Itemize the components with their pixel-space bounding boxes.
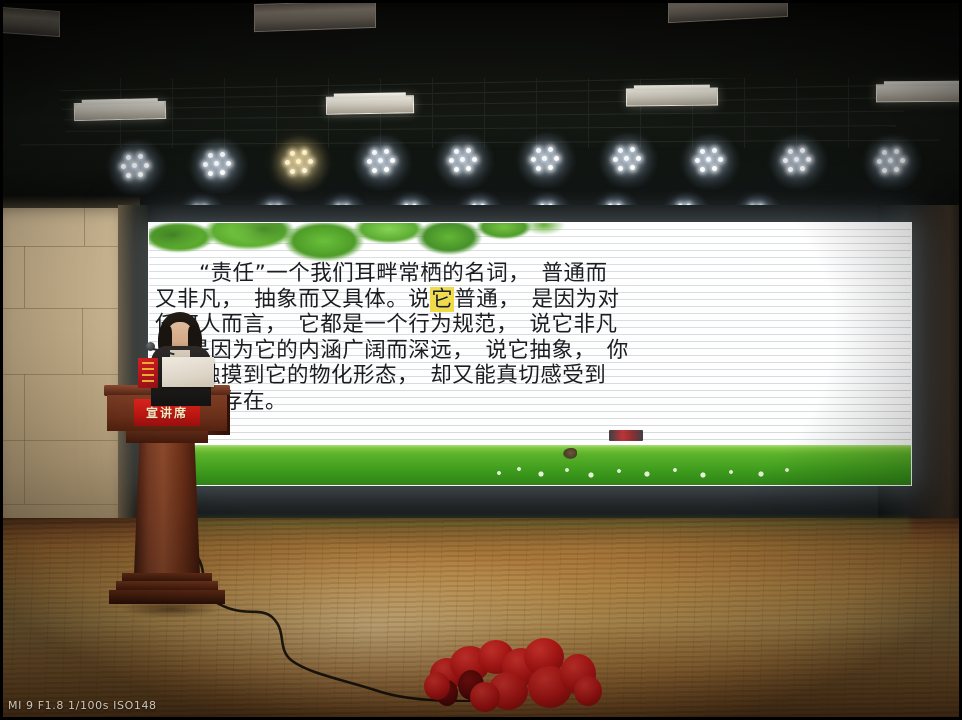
ceiling-troffer xyxy=(0,5,60,37)
slide-line-5: 难以触摸到它的物化形态， 却又能真切感受到 xyxy=(155,363,905,389)
led-spotlight xyxy=(120,152,154,182)
led-spotlight xyxy=(366,147,400,177)
led-spotlight xyxy=(448,146,482,176)
led-spotlight xyxy=(612,145,646,175)
camera-watermark: MI 9 F1.8 1/100s ISO148 xyxy=(8,699,157,712)
slide-white-flowers xyxy=(479,461,809,483)
slide-line-4: ， 是因为它的内涵广阔而深远， 说它抽象， 你 xyxy=(155,338,905,364)
slide-line-2a: 又非凡， 抽象而又具体。说 xyxy=(155,287,430,312)
led-spotlight xyxy=(284,148,318,178)
microphone-arm xyxy=(153,348,175,355)
slide-line-3: 任何人而言， 它都是一个行为规范， 说它非凡 xyxy=(155,312,905,338)
led-spotlight xyxy=(782,146,816,176)
slide-text-block: “责任”一个我们耳畔常栖的名词， 普通而 又非凡， 抽象而又具体。说它普通， 是… xyxy=(155,261,905,414)
slide-line-2b: 普通， 是因为对 xyxy=(454,287,619,312)
microphone xyxy=(146,342,174,358)
ceiling-troffer xyxy=(254,0,376,32)
podium-neck xyxy=(126,431,208,443)
ceiling-light-panel xyxy=(876,84,962,103)
projection-screen: “责任”一个我们耳畔常栖的名词， 普通而 又非凡， 抽象而又具体。说它普通， 是… xyxy=(148,222,912,486)
podium-base-step-3 xyxy=(109,590,225,604)
ceiling-troffer xyxy=(668,0,788,23)
slide-foliage-shadow xyxy=(148,222,403,265)
red-banner xyxy=(138,358,158,388)
slide-line-2: 又非凡， 抽象而又具体。说它普通， 是因为对 xyxy=(155,287,905,313)
led-spotlight xyxy=(202,150,236,180)
right-wall xyxy=(905,205,962,545)
slide-badge xyxy=(609,430,643,441)
ceiling-light-panel xyxy=(626,88,718,107)
led-spotlight xyxy=(876,147,910,177)
flower-arrangement xyxy=(424,636,604,720)
led-spotlight xyxy=(694,146,728,176)
speech-paper xyxy=(162,357,214,387)
watermark-text: MI 9 F1.8 1/100s ISO148 xyxy=(8,699,157,712)
podium-column xyxy=(134,443,200,575)
slide-bird xyxy=(563,448,577,459)
ceiling xyxy=(0,0,962,232)
ceiling-light-panel xyxy=(74,101,166,121)
slide-line-1: “责任”一个我们耳畔常栖的名词， 普通而 xyxy=(155,261,905,287)
podium: 宣讲席 xyxy=(104,385,230,617)
highlighted-character: 它 xyxy=(430,287,454,312)
led-spotlight xyxy=(530,145,564,175)
slide-line-6: 的存在。 xyxy=(155,389,905,415)
photograph: “责任”一个我们耳畔常栖的名词， 普通而 又非凡， 抽象而又具体。说它普通， 是… xyxy=(0,0,962,720)
ceiling-light-panel xyxy=(326,95,414,115)
